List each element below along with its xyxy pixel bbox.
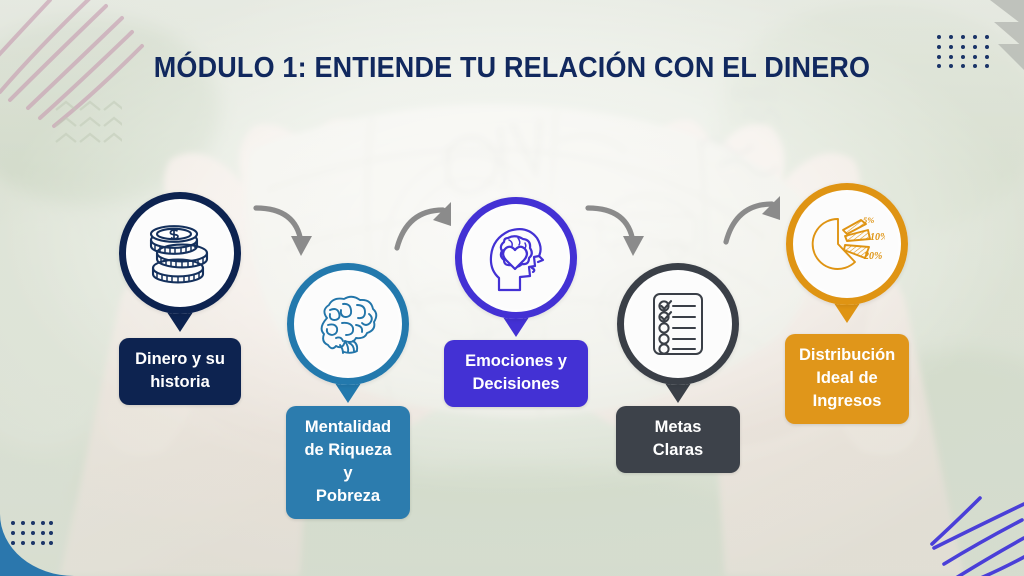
pie-label-5: 5% bbox=[863, 215, 874, 225]
coin-stack-icon bbox=[148, 222, 212, 284]
node-5-bubble[interactable]: 5% 10% 20% bbox=[786, 183, 908, 305]
brain-icon bbox=[315, 294, 381, 354]
slide-canvas: 02455 bbox=[0, 0, 1024, 576]
node-2-label: Mentalidad de Riqueza y Pobreza bbox=[286, 406, 410, 519]
node-1-label: Dinero y su historia bbox=[119, 338, 241, 405]
flow-arrow-4 bbox=[722, 192, 788, 248]
node-3-icon-area bbox=[465, 207, 567, 309]
node-1-bubble[interactable] bbox=[119, 192, 241, 314]
pie-label-10: 10% bbox=[870, 232, 885, 243]
pie-label-20: 20% bbox=[863, 251, 882, 262]
node-2-icon-area bbox=[297, 273, 399, 375]
node-5-icon-area: 5% 10% 20% bbox=[796, 193, 898, 295]
node-1-icon-area bbox=[129, 202, 231, 304]
node-3-label: Emociones y Decisiones bbox=[444, 340, 588, 407]
page-title: MÓDULO 1: ENTIENDE TU RELACIÓN CON EL DI… bbox=[36, 52, 988, 85]
checklist-clipboard-icon bbox=[651, 291, 705, 357]
flow-arrow-1 bbox=[252, 202, 318, 258]
node-3-bubble[interactable] bbox=[455, 197, 577, 319]
flow-node-1[interactable]: Dinero y su historia bbox=[119, 192, 241, 314]
flow-node-2[interactable]: Mentalidad de Riqueza y Pobreza bbox=[287, 263, 409, 385]
flow-node-3[interactable]: Emociones y Decisiones bbox=[455, 197, 577, 319]
node-4-label: Metas Claras bbox=[616, 406, 740, 473]
flow-node-4[interactable]: Metas Claras bbox=[617, 263, 739, 385]
node-2-bubble[interactable] bbox=[287, 263, 409, 385]
node-4-icon-area bbox=[627, 273, 729, 375]
flow-arrow-3 bbox=[584, 202, 650, 258]
head-brain-heart-icon bbox=[487, 224, 545, 292]
flow-arrow-2 bbox=[393, 198, 459, 254]
flow-node-5[interactable]: 5% 10% 20% Distribución Ideal de Ingreso… bbox=[786, 183, 908, 305]
pie-chart-icon: 5% 10% 20% bbox=[809, 214, 885, 274]
node-4-bubble[interactable] bbox=[617, 263, 739, 385]
node-5-label: Distribución Ideal de Ingresos bbox=[785, 334, 909, 424]
